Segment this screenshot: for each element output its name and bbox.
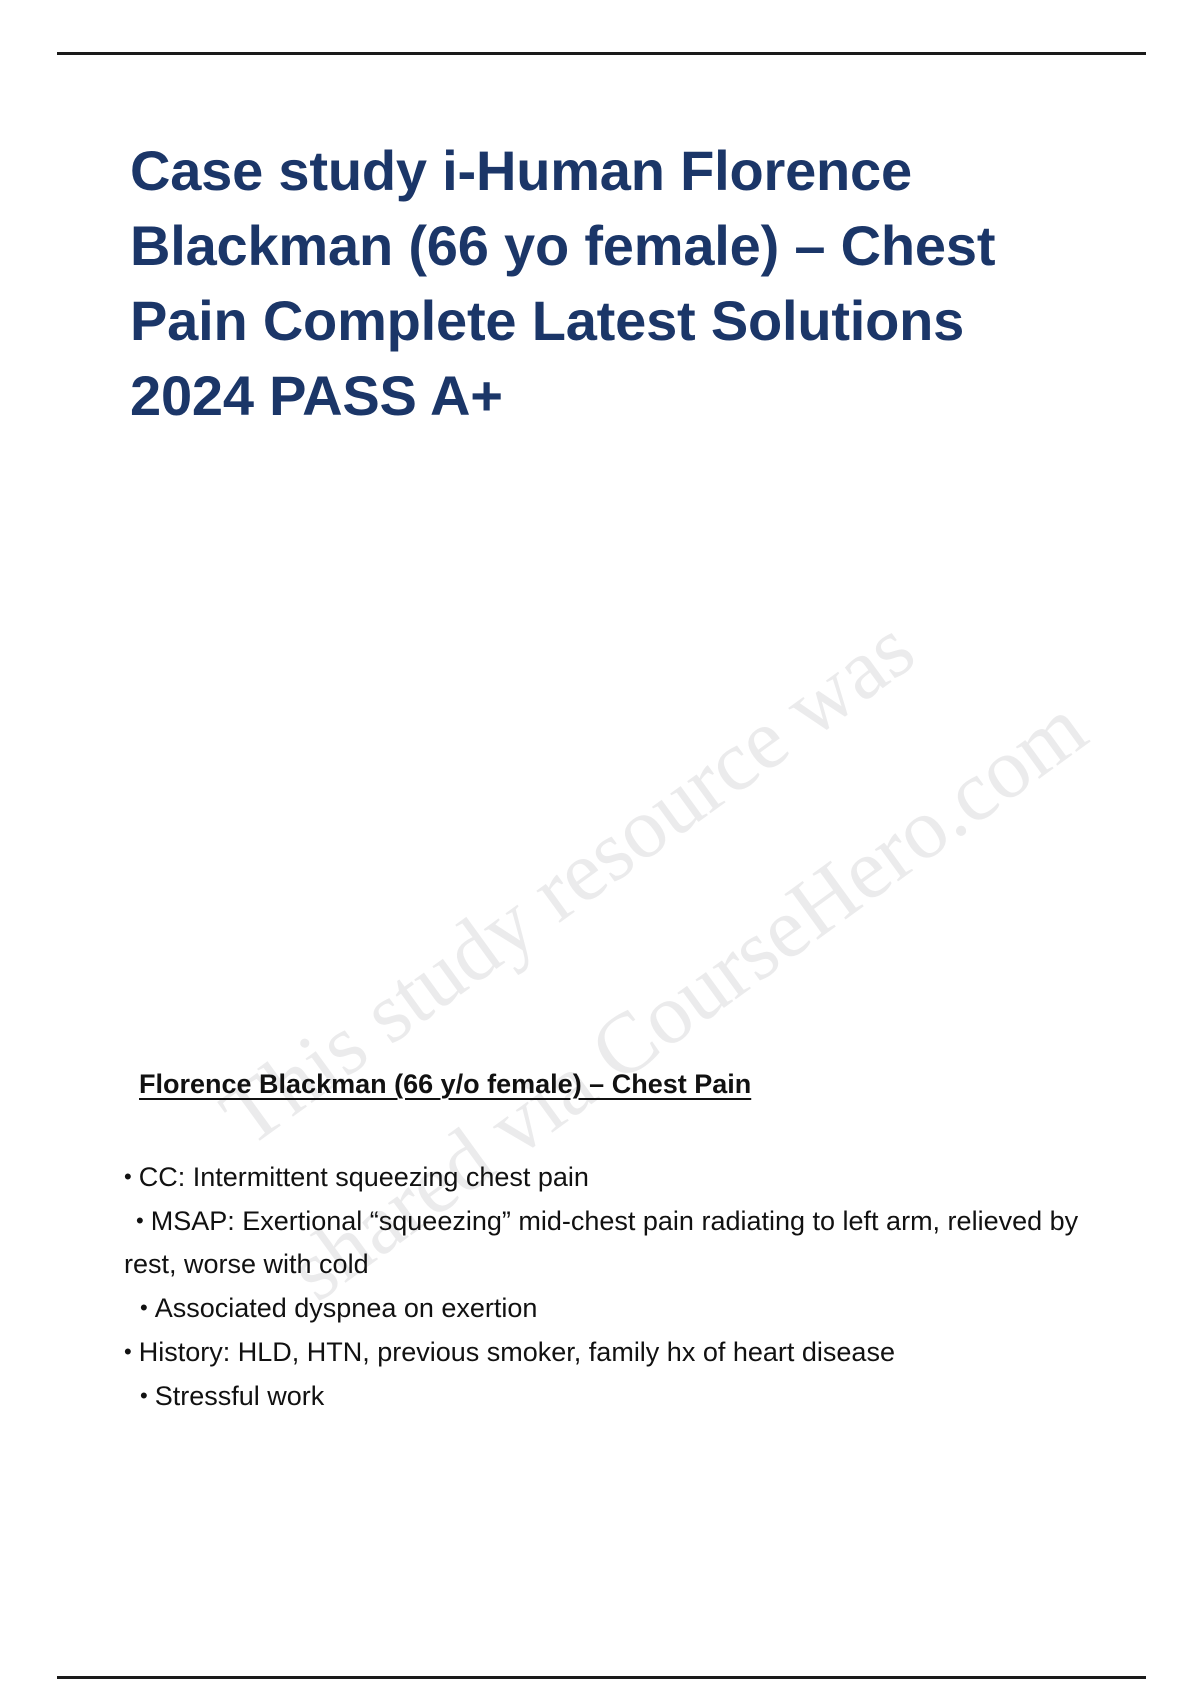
bullet-icon: •: [136, 1208, 151, 1233]
list-item-text: History: HLD, HTN, previous smoker, fami…: [139, 1337, 895, 1367]
bullet-icon: •: [124, 1339, 139, 1364]
list-item: •CC: Intermittent squeezing chest pain: [0, 1155, 1200, 1199]
list-item: •History: HLD, HTN, previous smoker, fam…: [0, 1330, 1200, 1374]
list-item-text: MSAP: Exertional “squeezing” mid-chest p…: [124, 1206, 1078, 1279]
document-page: This study resource was shared via Cours…: [0, 0, 1200, 1700]
document-content: Case study i-Human Florence Blackman (66…: [0, 0, 1200, 1700]
case-summary-list: •CC: Intermittent squeezing chest pain •…: [0, 1155, 1200, 1418]
list-item: •Stressful work: [0, 1374, 1200, 1418]
section-heading: Florence Blackman (66 y/o female) – Ches…: [139, 1067, 751, 1101]
list-item-text: Associated dyspnea on exertion: [155, 1293, 538, 1323]
bullet-icon: •: [140, 1295, 155, 1320]
list-item-text: Stressful work: [155, 1381, 325, 1411]
list-item: •MSAP: Exertional “squeezing” mid-chest …: [0, 1199, 1200, 1286]
bullet-icon: •: [124, 1164, 139, 1189]
page-title: Case study i-Human Florence Blackman (66…: [130, 133, 1010, 433]
list-item: •Associated dyspnea on exertion: [0, 1286, 1200, 1330]
bullet-icon: •: [140, 1383, 155, 1408]
list-item-text: CC: Intermittent squeezing chest pain: [139, 1162, 589, 1192]
